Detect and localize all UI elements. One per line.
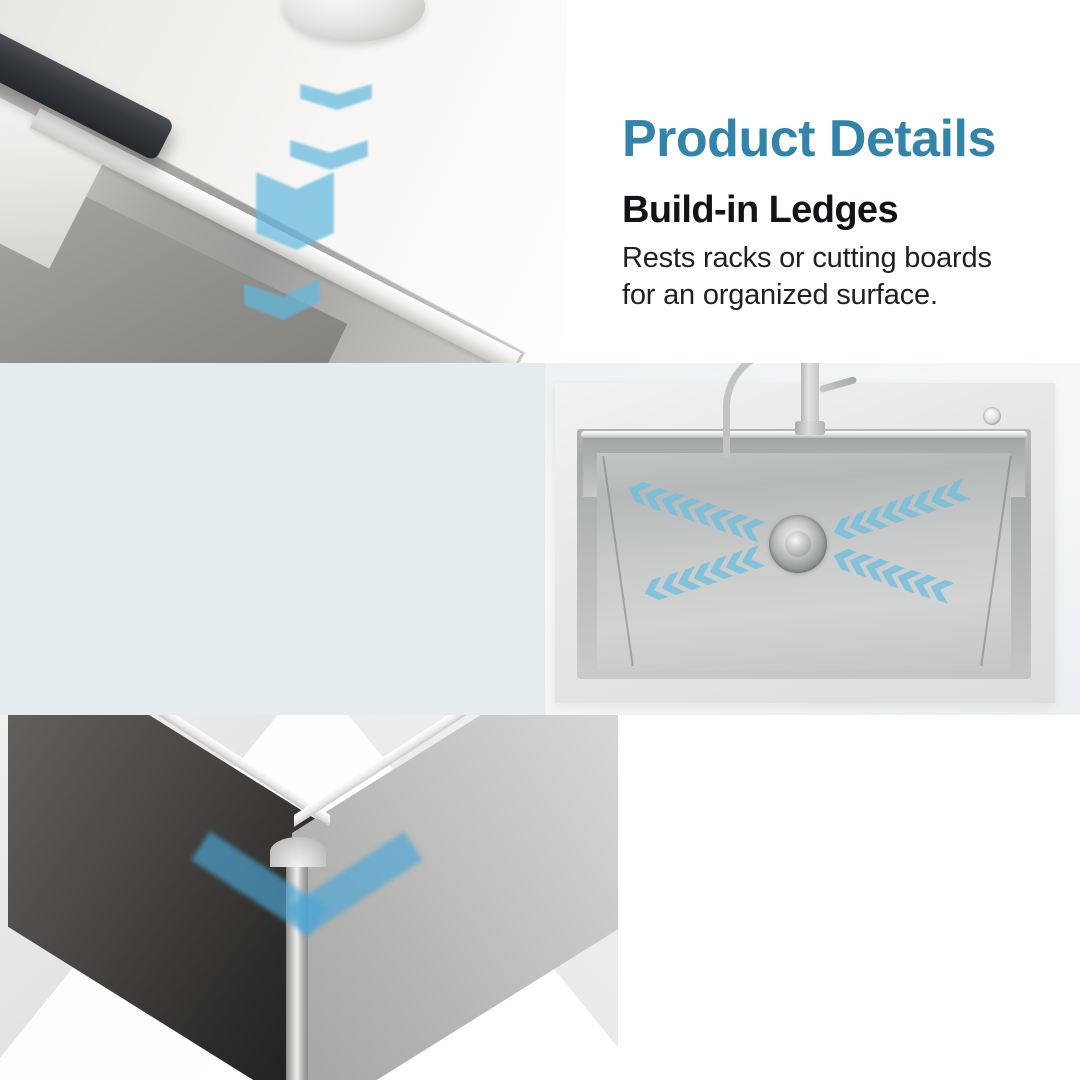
sink-top-view-image (545, 363, 1080, 715)
sink-drain (769, 515, 827, 573)
deck-accessory-hole (983, 407, 1001, 425)
rounded-corner-crest (270, 837, 326, 867)
ledges-description: Rests racks or cutting boards for an org… (622, 240, 996, 314)
section-rounded-corner: Rounded Corner Softly rounded all corner… (0, 715, 1080, 1080)
section-x-channel-grooves: X Channel Grooves Engineered channel gro… (0, 363, 1080, 715)
sink-rounded-corner-image (0, 715, 618, 1080)
section-built-in-ledges: Product Details Build-in Ledges Rests ra… (0, 0, 1080, 363)
ledges-text-block: Product Details Build-in Ledges Rests ra… (622, 112, 996, 315)
sink-ledge-closeup-image (0, 0, 566, 363)
product-details-infographic: Product Details Build-in Ledges Rests ra… (0, 0, 1080, 1080)
page-title: Product Details (622, 112, 996, 167)
ledges-heading: Build-in Ledges (622, 189, 898, 235)
rounded-corner-post (286, 843, 308, 1080)
faucet-base (795, 421, 825, 435)
